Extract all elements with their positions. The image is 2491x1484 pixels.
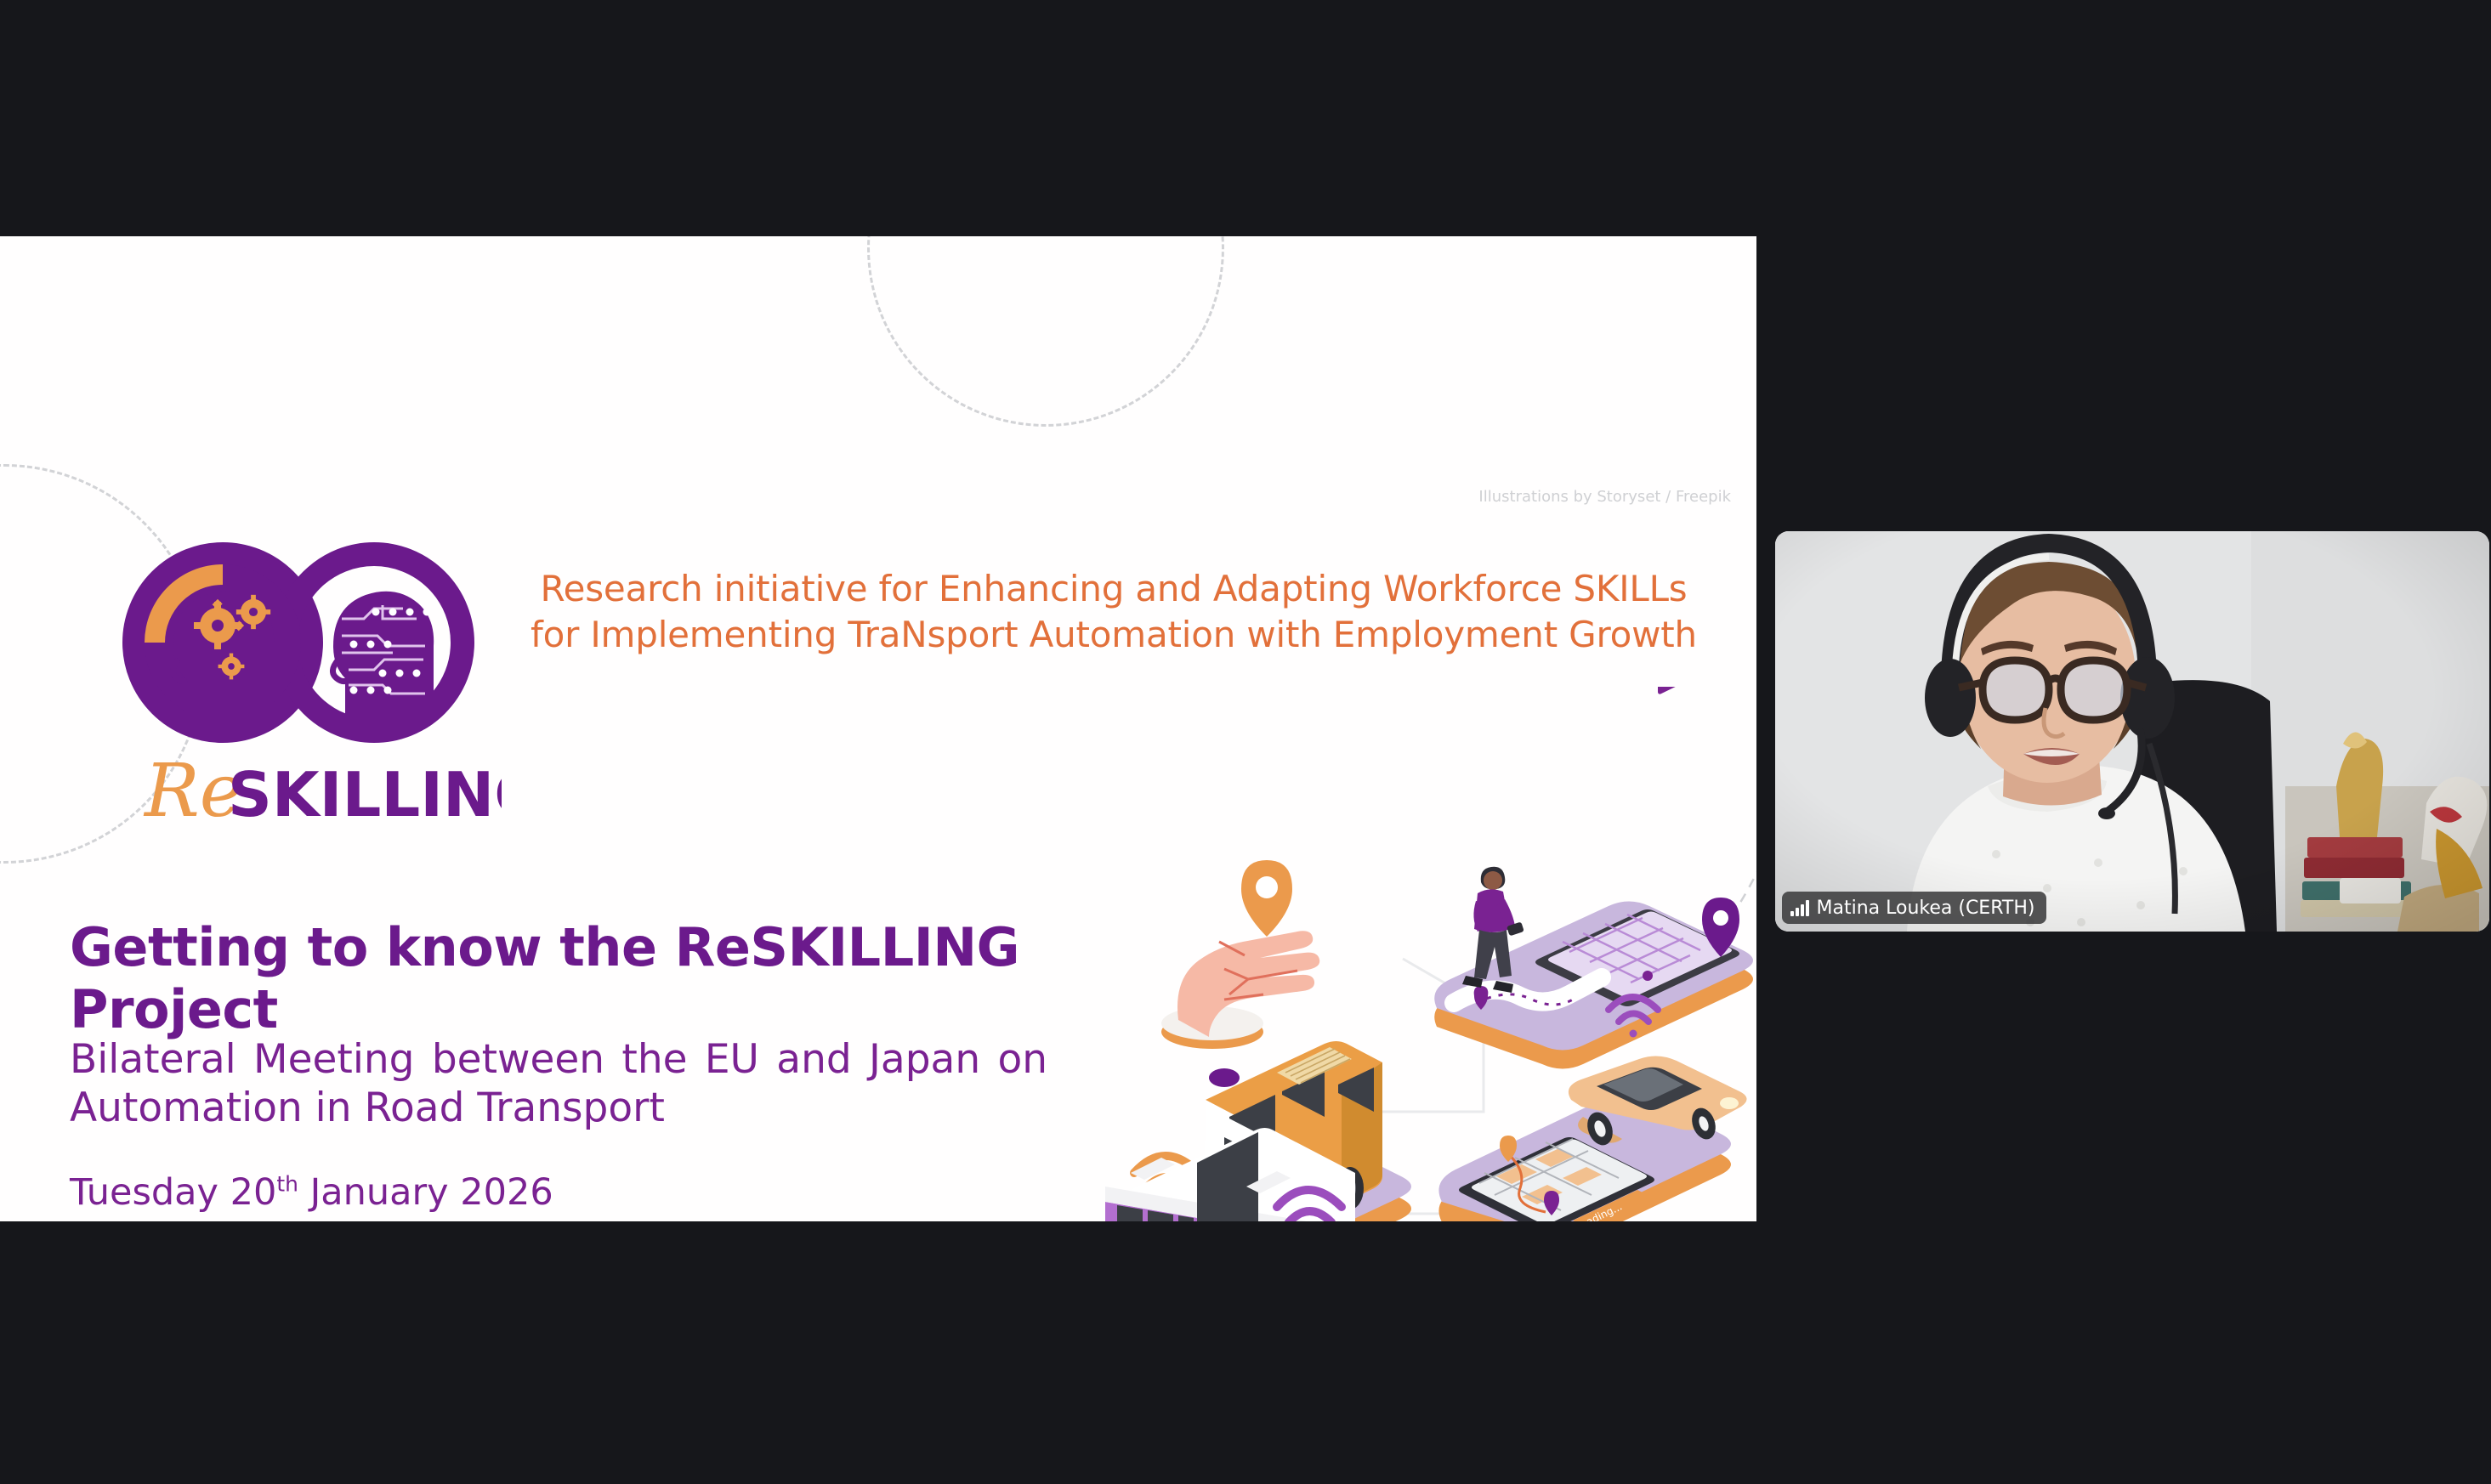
project-acronym-expansion: Research initiative for Enhancing and Ad… bbox=[510, 566, 1717, 658]
illustration-credit: Illustrations by Storyset / Freepik bbox=[1478, 488, 1731, 506]
participant-video-tile[interactable]: Matina Loukea (CERTH) bbox=[1775, 531, 2489, 932]
subtitle-line-1: Research initiative for Enhancing and Ad… bbox=[510, 566, 1717, 612]
tablet-map-platform bbox=[1434, 687, 1753, 1069]
subtitle-line-2: for Implementing TraNsport Automation wi… bbox=[510, 612, 1717, 658]
slide-date: Tuesday 20th January 2026 bbox=[70, 1171, 553, 1214]
participant-name-badge: Matina Loukea (CERTH) bbox=[1782, 892, 2046, 924]
presentation-slide[interactable]: Illustrations by Storyset / Freepik bbox=[0, 236, 1756, 1221]
reskilling-logo: Re SKILLING bbox=[94, 517, 502, 831]
reskilling-logo-svg: Re SKILLING bbox=[94, 517, 502, 831]
transport-automation-illustration: CITY BUS bbox=[1097, 687, 1756, 1221]
dashed-circle-decoration-top bbox=[867, 236, 1224, 427]
logo-word-skilling: SKILLING bbox=[228, 759, 502, 830]
meeting-subtitle: Bilateral Meeting between the EU and Jap… bbox=[70, 1035, 1047, 1133]
audio-level-icon bbox=[1790, 900, 1809, 916]
date-prefix: Tuesday 20 bbox=[70, 1171, 276, 1214]
screen-share-view: Illustrations by Storyset / Freepik bbox=[0, 0, 2491, 1484]
participant-video-frame bbox=[1775, 531, 2489, 932]
date-ordinal: th bbox=[276, 1172, 298, 1197]
date-suffix: January 2026 bbox=[298, 1171, 553, 1214]
participant-name: Matina Loukea (CERTH) bbox=[1817, 898, 2035, 919]
slide-title: Getting to know the ReSKILLING Project bbox=[70, 916, 1175, 1040]
bus-roof-sensor bbox=[1209, 1068, 1240, 1087]
hand-with-location-pin bbox=[1161, 860, 1319, 1049]
